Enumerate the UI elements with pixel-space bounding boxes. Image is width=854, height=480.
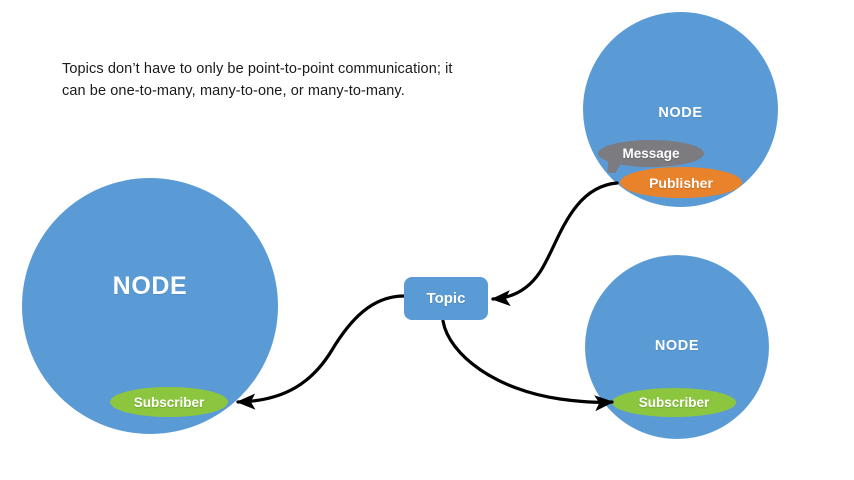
node-bottom-right-label: NODE — [585, 338, 769, 354]
diagram-canvas: Topics don’t have to only be point-to-po… — [0, 0, 854, 480]
subscriber-oval-bottom-right: Subscriber — [612, 388, 736, 417]
caption-text: Topics don’t have to only be point-to-po… — [62, 58, 482, 103]
topic-box[interactable]: Topic — [404, 277, 488, 320]
message-bubble: Message — [598, 140, 704, 167]
node-left-label: NODE — [22, 272, 278, 301]
publisher-oval: Publisher — [620, 167, 742, 198]
topic-label: Topic — [427, 290, 466, 307]
arrow-publisher-to-topic — [493, 183, 617, 299]
node-top-right-label: NODE — [583, 105, 778, 121]
subscriber-oval-left: Subscriber — [110, 387, 228, 417]
